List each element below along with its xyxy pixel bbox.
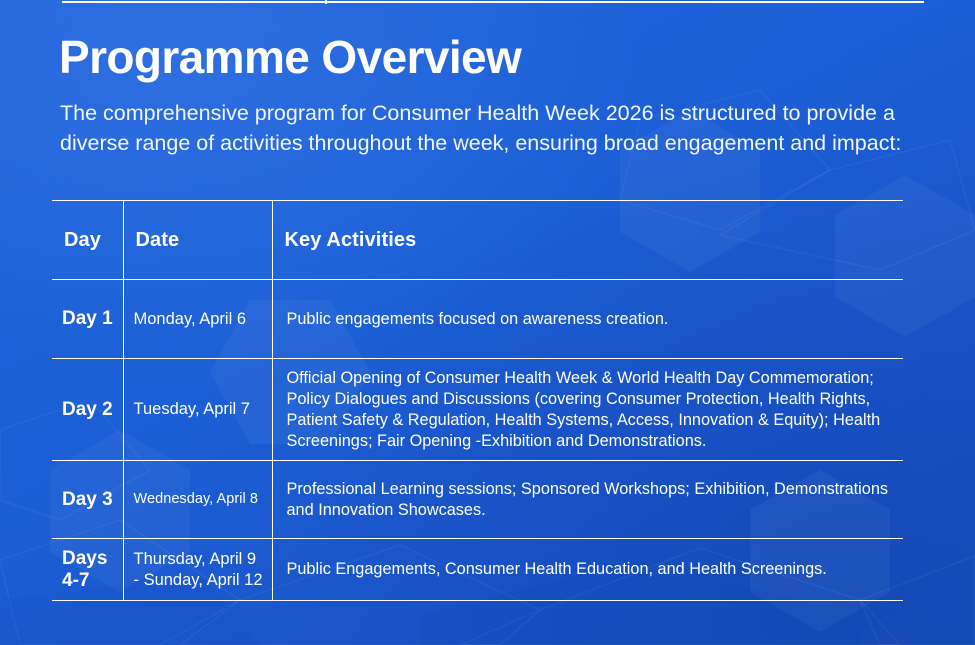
row-day-cell: Day 2: [52, 359, 123, 461]
row-activities-cell: Public Engagements, Consumer Health Educ…: [272, 539, 903, 601]
row-date-label: Monday, April 6: [124, 301, 272, 338]
programme-table: Day Date Key Activities Day 1: [52, 200, 903, 601]
slide-canvas: Programme Overview The comprehensive pro…: [0, 0, 975, 645]
row-date-cell: Wednesday, April 8: [123, 461, 272, 539]
row-day-label: Days 4-7: [52, 540, 123, 600]
column-header-day: Day: [52, 201, 123, 280]
table-body: Day 1 Monday, April 6 Public engagements…: [52, 280, 903, 601]
row-date-cell: Tuesday, April 7: [123, 359, 272, 461]
row-activities-label: Public Engagements, Consumer Health Educ…: [273, 551, 904, 588]
page-title: Programme Overview: [59, 28, 521, 86]
row-activities-label: Professional Learning sessions; Sponsore…: [273, 471, 904, 529]
programme-table-wrapper: Day Date Key Activities Day 1: [52, 200, 903, 601]
table-header: Day Date Key Activities: [52, 201, 903, 280]
row-date-label: Tuesday, April 7: [124, 391, 272, 428]
table-row: Day 1 Monday, April 6 Public engagements…: [52, 280, 903, 359]
row-day-label: Day 2: [52, 391, 123, 429]
column-header-date-label: Date: [124, 217, 272, 264]
top-divider-tick: [325, 0, 327, 4]
row-day-label: Day 1: [52, 300, 123, 338]
table-row: Day 3 Wednesday, April 8 Professional Le…: [52, 461, 903, 539]
column-header-day-label: Day: [52, 217, 123, 264]
intro-paragraph: The comprehensive program for Consumer H…: [60, 98, 916, 158]
column-header-activities: Key Activities: [272, 201, 903, 280]
row-day-cell: Day 3: [52, 461, 123, 539]
column-header-date: Date: [123, 201, 272, 280]
table-row: Day 2 Tuesday, April 7 Official Opening …: [52, 359, 903, 461]
row-activities-label: Official Opening of Consumer Health Week…: [273, 360, 904, 460]
row-date-label: Wednesday, April 8: [124, 481, 272, 518]
row-date-cell: Thursday, April 9 - Sunday, April 12: [123, 539, 272, 601]
row-activities-cell: Professional Learning sessions; Sponsore…: [272, 461, 903, 539]
row-date-label: Thursday, April 9 - Sunday, April 12: [124, 541, 272, 599]
row-date-cell: Monday, April 6: [123, 280, 272, 359]
row-day-label: Day 3: [52, 481, 123, 519]
row-day-cell: Day 1: [52, 280, 123, 359]
row-activities-label: Public engagements focused on awareness …: [273, 301, 904, 338]
row-activities-cell: Public engagements focused on awareness …: [272, 280, 903, 359]
column-header-activities-label: Key Activities: [273, 217, 904, 264]
table-header-row: Day Date Key Activities: [52, 201, 903, 280]
row-day-cell: Days 4-7: [52, 539, 123, 601]
row-activities-cell: Official Opening of Consumer Health Week…: [272, 359, 903, 461]
table-row: Days 4-7 Thursday, April 9 - Sunday, Apr…: [52, 539, 903, 601]
top-divider-rule: [62, 1, 924, 3]
